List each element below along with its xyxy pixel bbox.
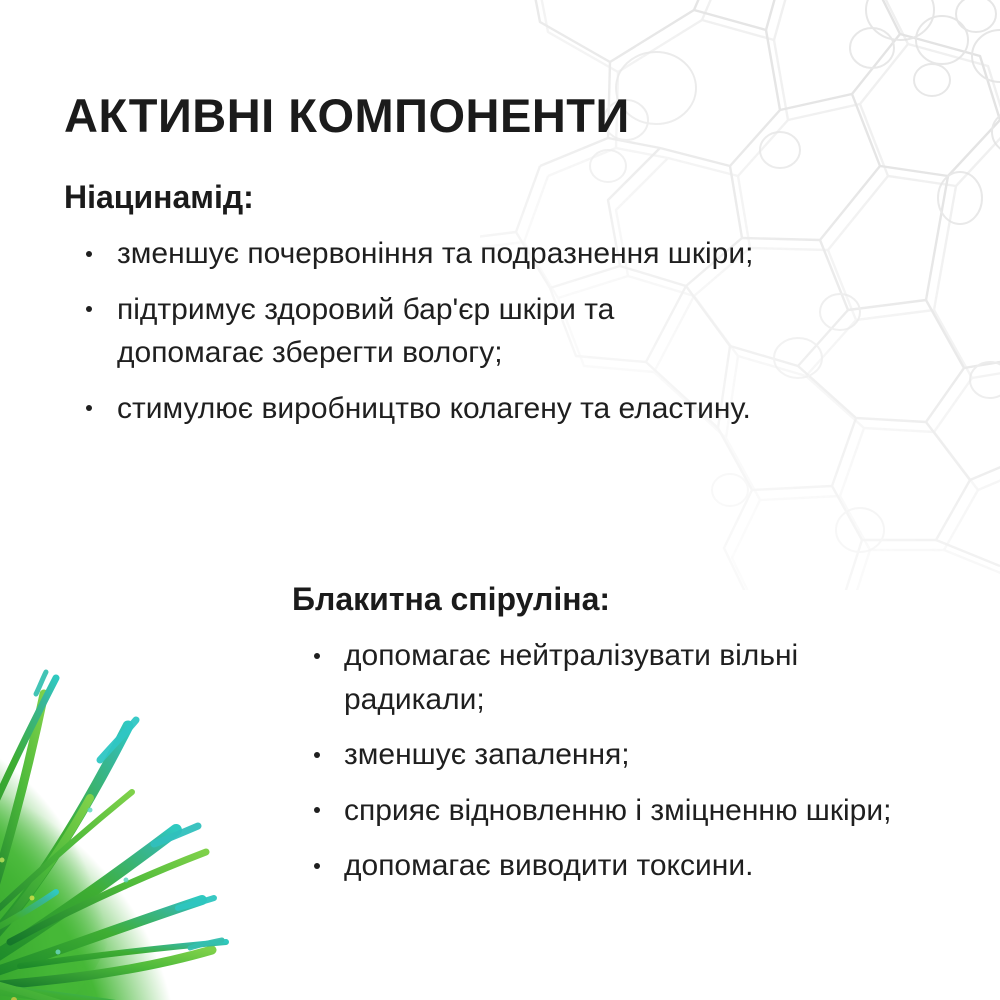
bullet-dot-icon [86,251,92,257]
list-item: зменшує запалення; [292,733,932,777]
bullet-list-niacinamide: зменшує почервоніння та подразнення шкір… [64,232,764,430]
list-item-text: зменшує почервоніння та подразнення шкір… [117,232,764,276]
section-heading-niacinamide: Ніацинамід: [64,178,764,216]
list-item-text: сприяє відновленню і зміцненню шкіри; [344,789,932,833]
list-item: підтримує здоровий бар'єр шкіри та допом… [64,288,764,375]
list-item-text: стимулює виробництво колагену та еластин… [117,387,764,431]
bullet-dot-icon [314,752,320,758]
bullet-dot-icon [314,863,320,869]
list-item: допомагає виводити токсини. [292,844,932,888]
bullet-dot-icon [86,405,92,411]
section-spirulina: Блакитна спіруліна: допомагає нейтралізу… [292,580,932,888]
list-item-text: допомагає виводити токсини. [344,844,932,888]
list-item-text: підтримує здоровий бар'єр шкіри та допом… [117,288,764,375]
page-title: АКТИВНІ КОМПОНЕНТИ [64,91,630,140]
list-item: допомагає нейтралізувати вільні радикали… [292,634,932,721]
list-item: стимулює виробництво колагену та еластин… [64,387,764,431]
bullet-dot-icon [314,653,320,659]
list-item: зменшує почервоніння та подразнення шкір… [64,232,764,276]
list-item-text: зменшує запалення; [344,733,932,777]
list-item-text: допомагає нейтралізувати вільні радикали… [344,634,932,721]
list-item: сприяє відновленню і зміцненню шкіри; [292,789,932,833]
section-heading-spirulina: Блакитна спіруліна: [292,580,932,618]
slide-canvas: АКТИВНІ КОМПОНЕНТИ Ніацинамід: зменшує п… [0,0,1000,1000]
section-niacinamide: Ніацинамід: зменшує почервоніння та подр… [64,178,764,430]
bullet-dot-icon [86,306,92,312]
bullet-list-spirulina: допомагає нейтралізувати вільні радикали… [292,634,932,888]
bullet-dot-icon [314,807,320,813]
